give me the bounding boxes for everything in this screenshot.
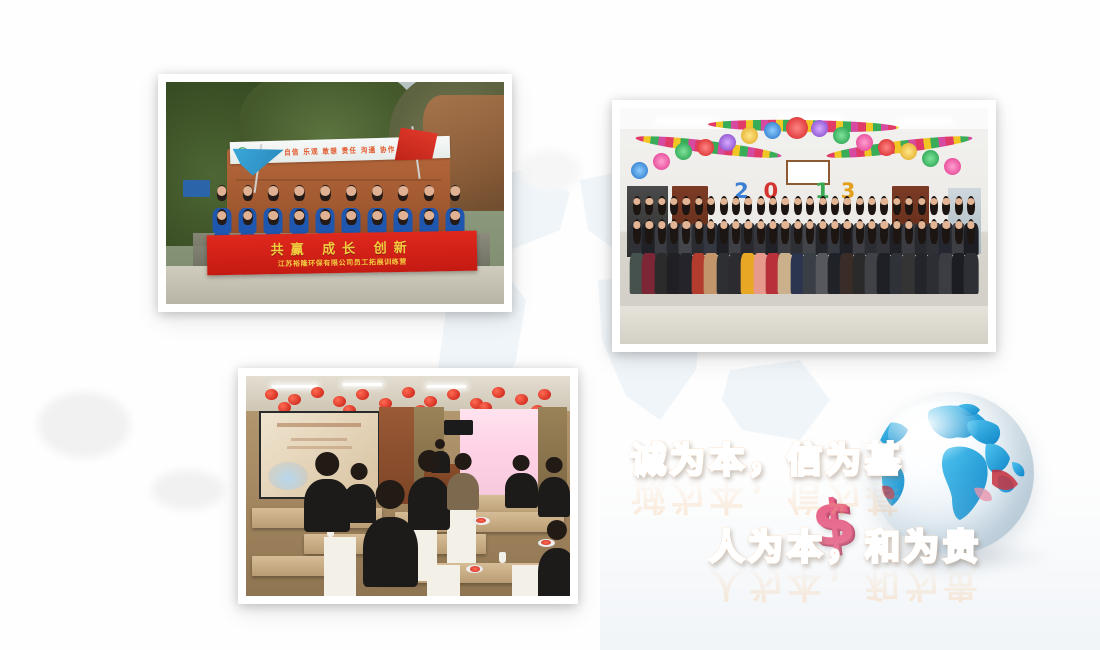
indoor-group-photo[interactable]: 2 0 1 3 (612, 100, 996, 352)
outdoor-team-building-photo[interactable]: 自信 乐观 敢想 责任 沟通 协作 (158, 74, 512, 312)
dollar-sign: $ (809, 490, 858, 556)
banner-main-text: 共赢 成长 创新 (270, 236, 413, 258)
meeting-room-photo[interactable] (238, 368, 578, 604)
background-bubble (520, 150, 580, 192)
globe-icon (872, 392, 1034, 554)
slogan-line1-reflection: 诚为本，信为基 (631, 474, 904, 525)
poster-canvas: 自信 乐观 敢想 责任 沟通 协作 (0, 0, 1100, 650)
slogan-line-1: 诚为本，信为基 (631, 432, 904, 483)
background-bubble (38, 392, 130, 458)
background-bubble (152, 470, 224, 510)
group-person (965, 221, 977, 287)
banner-sub-text: 江苏裕隆环保有限公司员工拓展训练营 (277, 257, 406, 269)
group-front-row (631, 221, 977, 287)
red-banner: 共赢 成长 创新 江苏裕隆环保有限公司员工拓展训练营 (206, 231, 477, 276)
wall-tv (444, 420, 473, 435)
wall-slogan-text: 自信 乐观 敢想 责任 沟通 协作 (284, 142, 396, 157)
